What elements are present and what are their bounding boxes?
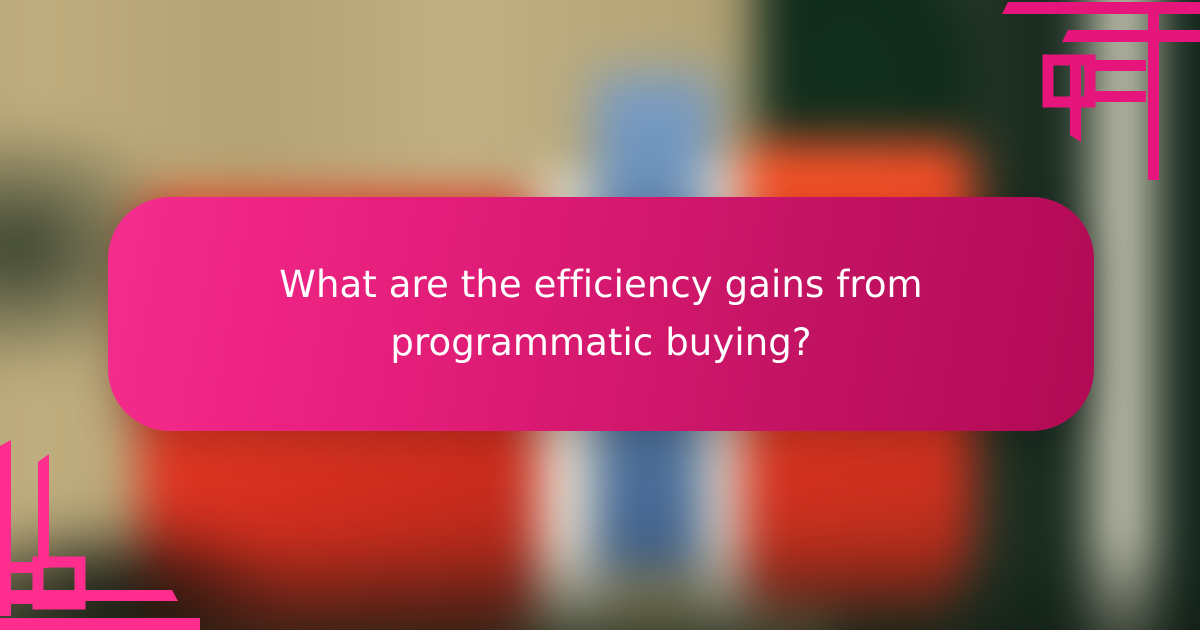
- question-card: What are the efficiency gains from progr…: [108, 197, 1094, 431]
- question-text: What are the efficiency gains from progr…: [211, 256, 991, 371]
- share-card-canvas: What are the efficiency gains from progr…: [0, 0, 1200, 630]
- background-pole: [1088, 0, 1156, 630]
- background-shadow-bottom-left: [0, 511, 288, 630]
